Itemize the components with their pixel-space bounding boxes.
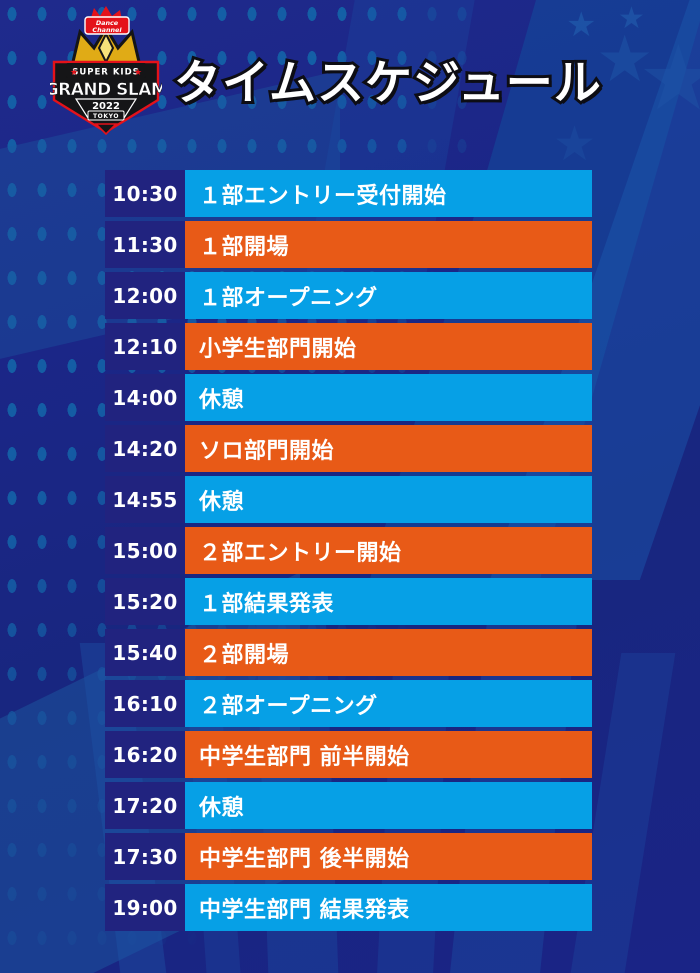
- schedule-time: 12:10: [105, 323, 185, 370]
- schedule-time: 19:00: [105, 884, 185, 931]
- schedule-time: 15:20: [105, 578, 185, 625]
- svg-text:TOKYO: TOKYO: [93, 113, 119, 120]
- schedule-row: 11:30１部開場: [105, 221, 592, 268]
- page-title: タイムスケジュール: [174, 44, 602, 113]
- schedule-event: １部オープニング: [185, 272, 592, 319]
- grand-slam-logo: Dance Channel SUPER KIDS ★ ★ GRAND SLAM …: [50, 4, 162, 136]
- svg-text:★: ★: [70, 68, 78, 78]
- schedule-row: 17:20休憩: [105, 782, 592, 829]
- schedule-event: 中学生部門 前半開始: [185, 731, 592, 778]
- schedule-time: 16:20: [105, 731, 185, 778]
- schedule-row: 14:55休憩: [105, 476, 592, 523]
- schedule-row: 12:00１部オープニング: [105, 272, 592, 319]
- schedule-event: １部エントリー受付開始: [185, 170, 592, 217]
- schedule-row: 10:30１部エントリー受付開始: [105, 170, 592, 217]
- schedule-time: 15:00: [105, 527, 185, 574]
- poster-header: Dance Channel SUPER KIDS ★ ★ GRAND SLAM …: [0, 0, 700, 160]
- schedule-event: 休憩: [185, 476, 592, 523]
- schedule-row: 17:30中学生部門 後半開始: [105, 833, 592, 880]
- schedule-time: 17:30: [105, 833, 185, 880]
- logo-shield: SUPER KIDS ★ ★ GRAND SLAM 2022 TOKYO: [50, 62, 162, 134]
- schedule-event: １部結果発表: [185, 578, 592, 625]
- schedule-event: ２部エントリー開始: [185, 527, 592, 574]
- schedule-row: 16:20中学生部門 前半開始: [105, 731, 592, 778]
- schedule-event: 中学生部門 後半開始: [185, 833, 592, 880]
- schedule-row: 12:10小学生部門開始: [105, 323, 592, 370]
- schedule-event: 休憩: [185, 374, 592, 421]
- schedule-event: １部開場: [185, 221, 592, 268]
- dance-channel-badge: Dance Channel: [85, 6, 129, 34]
- svg-text:Channel: Channel: [92, 26, 122, 34]
- schedule-event: ２部オープニング: [185, 680, 592, 727]
- schedule-row: 14:00休憩: [105, 374, 592, 421]
- svg-text:2022: 2022: [92, 101, 120, 112]
- schedule-time: 15:40: [105, 629, 185, 676]
- schedule-event: ソロ部門開始: [185, 425, 592, 472]
- schedule-time: 11:30: [105, 221, 185, 268]
- schedule-event: 小学生部門開始: [185, 323, 592, 370]
- svg-text:★: ★: [134, 68, 142, 78]
- schedule-row: 16:10２部オープニング: [105, 680, 592, 727]
- schedule-table: 10:30１部エントリー受付開始11:30１部開場12:00１部オープニング12…: [105, 170, 592, 935]
- schedule-row: 15:20１部結果発表: [105, 578, 592, 625]
- schedule-event: 休憩: [185, 782, 592, 829]
- schedule-event: 中学生部門 結果発表: [185, 884, 592, 931]
- schedule-poster: ★ ★ ★ ★ ★ Dance Channel: [0, 0, 700, 973]
- schedule-time: 14:00: [105, 374, 185, 421]
- schedule-time: 10:30: [105, 170, 185, 217]
- schedule-event: ２部開場: [185, 629, 592, 676]
- schedule-row: 19:00中学生部門 結果発表: [105, 884, 592, 931]
- schedule-time: 17:20: [105, 782, 185, 829]
- svg-text:SUPER KIDS: SUPER KIDS: [72, 68, 140, 78]
- schedule-row: 14:20ソロ部門開始: [105, 425, 592, 472]
- schedule-time: 14:55: [105, 476, 185, 523]
- schedule-row: 15:00２部エントリー開始: [105, 527, 592, 574]
- schedule-time: 16:10: [105, 680, 185, 727]
- schedule-row: 15:40２部開場: [105, 629, 592, 676]
- schedule-time: 12:00: [105, 272, 185, 319]
- svg-text:GRAND SLAM: GRAND SLAM: [50, 80, 162, 100]
- schedule-time: 14:20: [105, 425, 185, 472]
